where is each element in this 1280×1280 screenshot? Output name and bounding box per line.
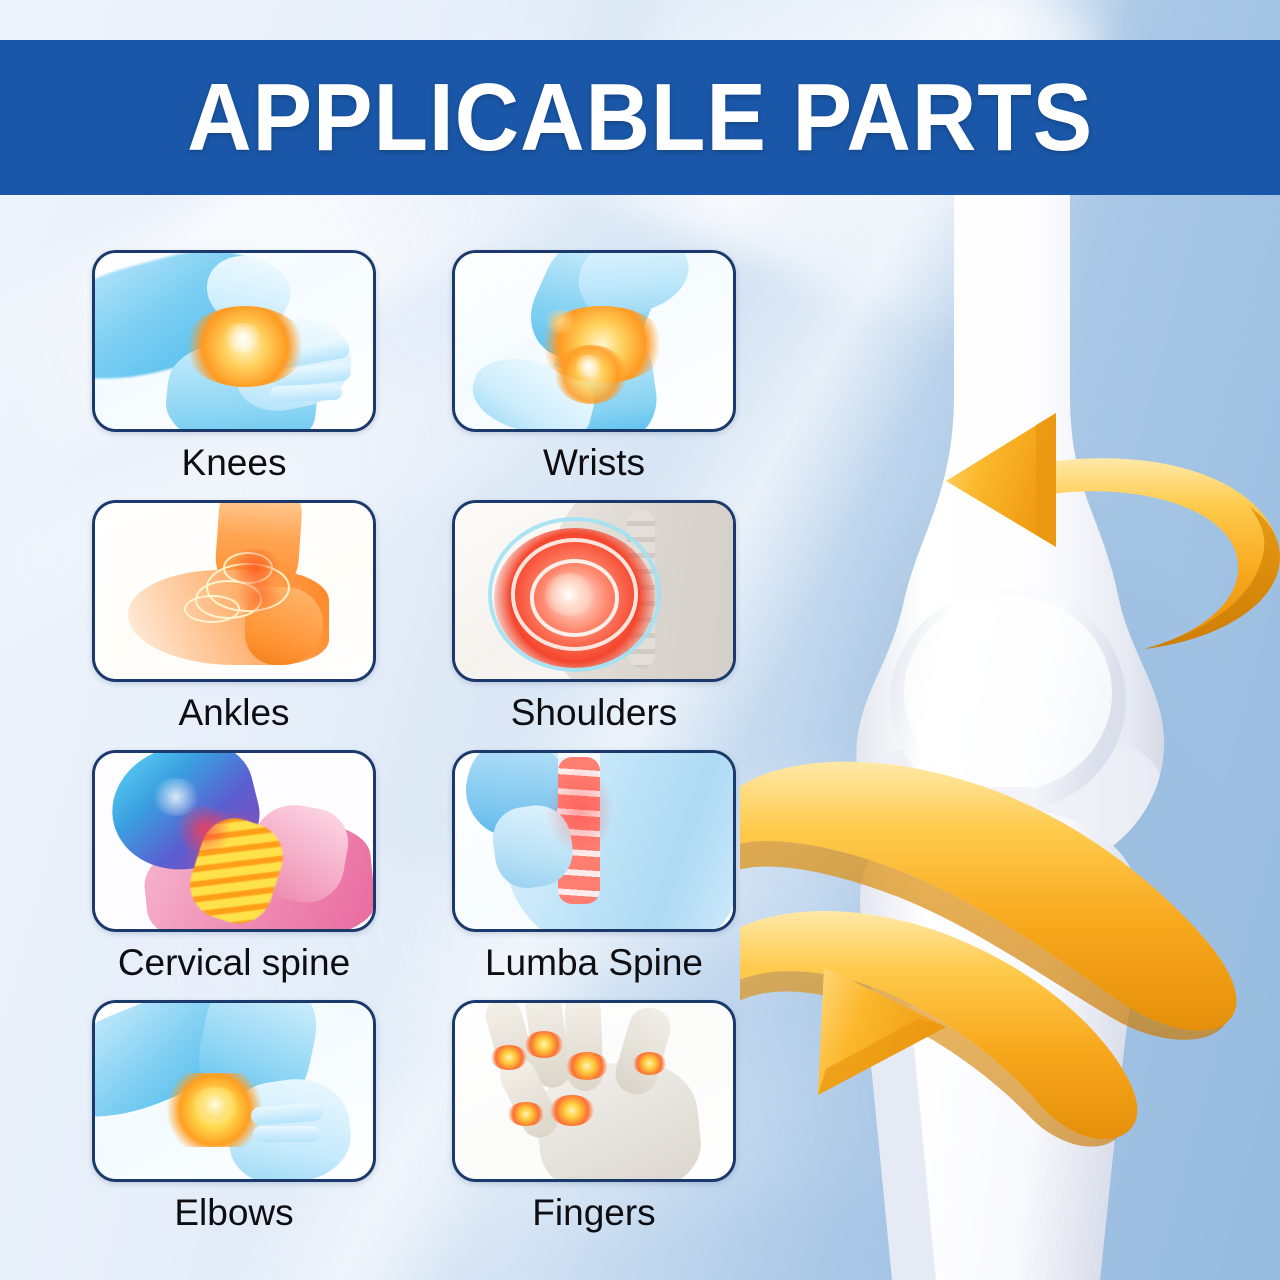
ankle-anatomy-illustration <box>95 503 373 679</box>
part-label-shoulders: Shoulders <box>452 693 736 734</box>
part-card-shoulders[interactable] <box>452 500 736 682</box>
shoulder-pain-rings-illustration <box>455 503 733 679</box>
part-card-elbows[interactable] <box>92 1000 376 1182</box>
part-card-wrists[interactable] <box>452 250 736 432</box>
knee-pain-illustration <box>95 253 373 429</box>
part-label-knees: Knees <box>92 443 376 484</box>
grid-cell: Ankles <box>92 500 376 750</box>
lumbar-spine-illustration <box>455 753 733 929</box>
grid-cell: Wrists <box>452 250 736 500</box>
part-card-knees[interactable] <box>92 250 376 432</box>
part-label-lumbar-spine: Lumba Spine <box>452 943 736 984</box>
grid-cell: Cervical spine <box>92 750 376 1000</box>
part-label-fingers: Fingers <box>452 1193 736 1234</box>
grid-cell: Fingers <box>452 1000 736 1250</box>
part-label-wrists: Wrists <box>452 443 736 484</box>
grid-cell: Knees <box>92 250 376 500</box>
part-card-lumbar-spine[interactable] <box>452 750 736 932</box>
infographic-page: APPLICABLE PARTS <box>0 0 1280 1280</box>
page-title: APPLICABLE PARTS <box>187 70 1093 166</box>
knee-joint-3d-render <box>740 195 1280 1280</box>
part-card-ankles[interactable] <box>92 500 376 682</box>
grid-cell: Shoulders <box>452 500 736 750</box>
part-card-cervical-spine[interactable] <box>92 750 376 932</box>
elbow-pain-illustration <box>95 1003 373 1179</box>
grid-cell: Lumba Spine <box>452 750 736 1000</box>
part-label-ankles: Ankles <box>92 693 376 734</box>
part-label-elbows: Elbows <box>92 1193 376 1234</box>
grid-cell: Elbows <box>92 1000 376 1250</box>
part-label-cervical-spine: Cervical spine <box>92 943 376 984</box>
finger-joints-illustration <box>455 1003 733 1179</box>
cervical-spine-illustration <box>95 753 373 929</box>
part-card-fingers[interactable] <box>452 1000 736 1182</box>
applicable-parts-grid: Knees W <box>92 250 740 1250</box>
title-banner: APPLICABLE PARTS <box>0 40 1280 195</box>
wrist-pain-illustration <box>455 253 733 429</box>
